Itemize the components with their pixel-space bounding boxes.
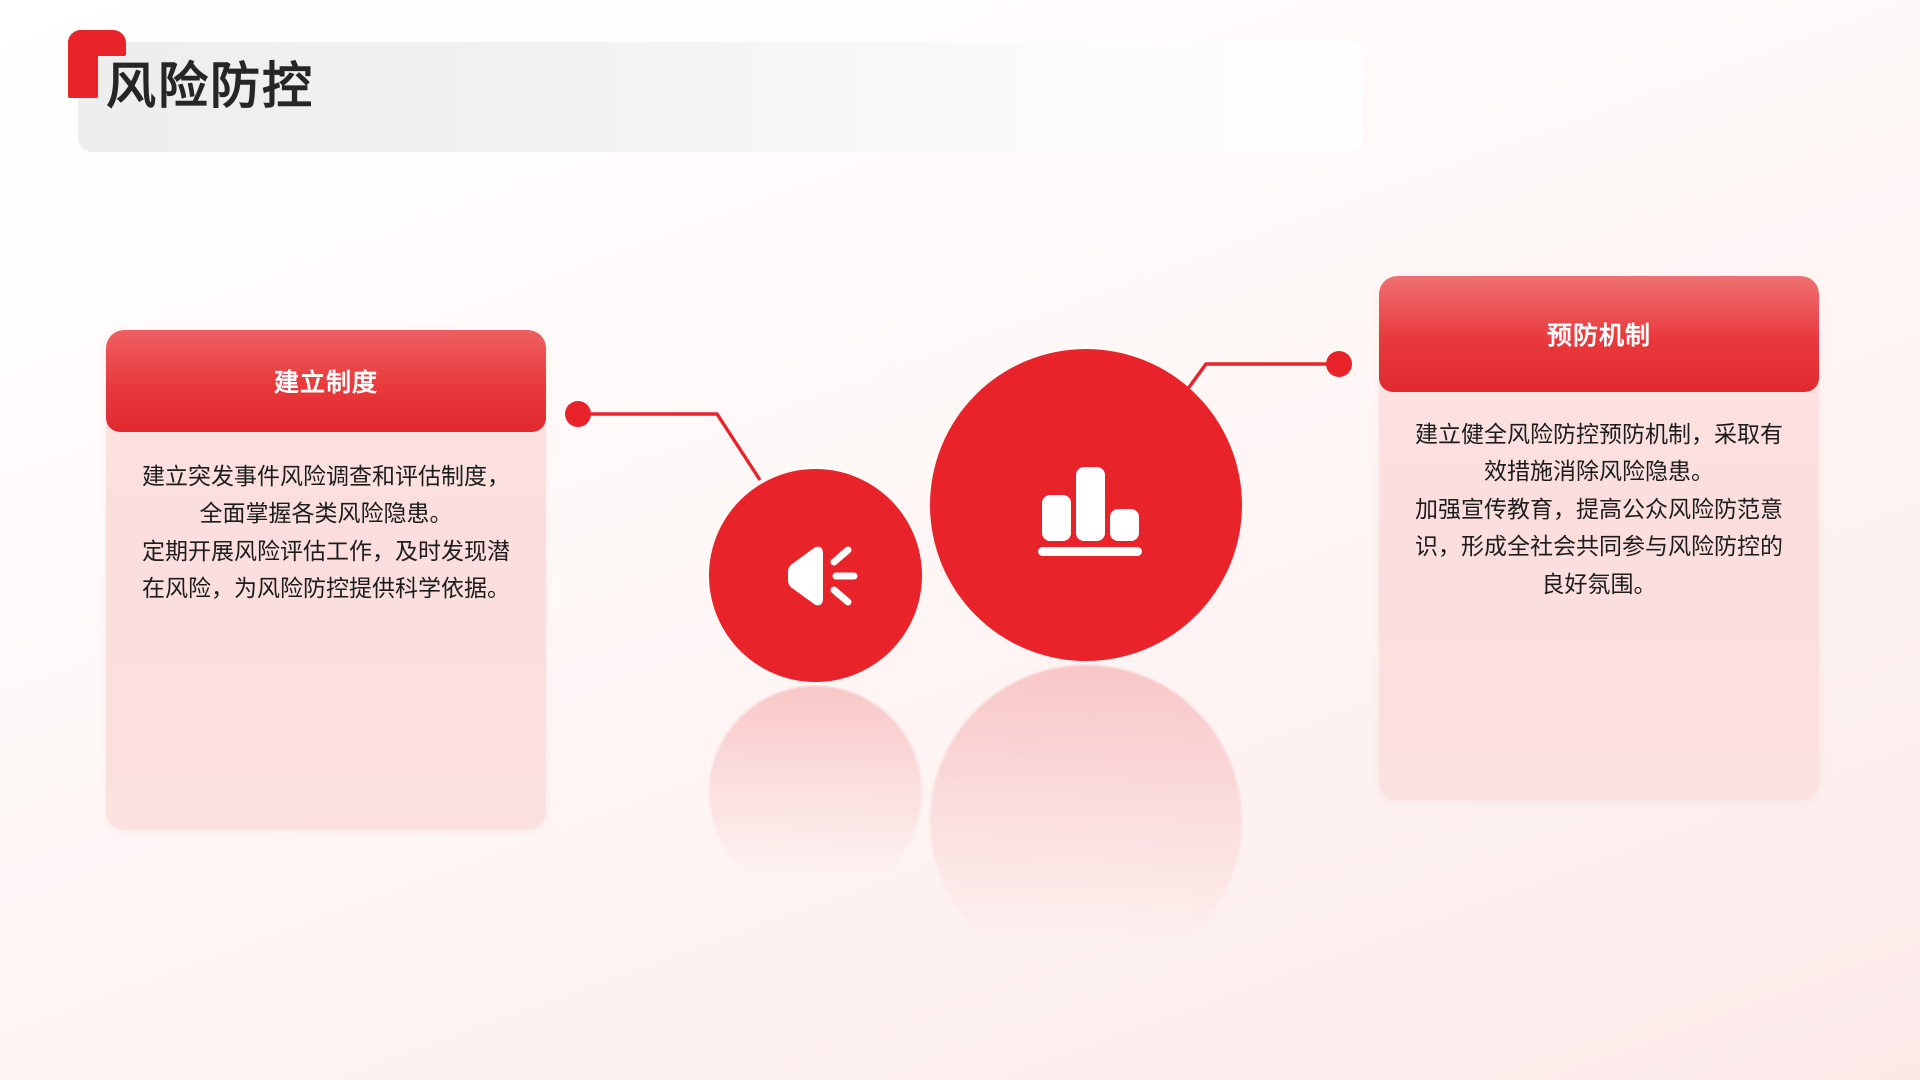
card-heading-prevention-mechanism: 预防机制 [1379, 276, 1819, 392]
connector-left-dot [565, 401, 591, 427]
icon-circle-bar-chart[interactable] [930, 349, 1242, 661]
card-prevention-mechanism[interactable]: 预防机制 建立健全风险防控预防机制，采取有效措施消除风险隐患。 加强宣传教育，提… [1379, 276, 1819, 800]
bar-chart-icon [1020, 439, 1152, 571]
page-title: 风险防控 [106, 56, 314, 116]
speaker-icon [768, 528, 864, 624]
connector-left-line [585, 414, 760, 480]
card-body-prevention-mechanism: 建立健全风险防控预防机制，采取有效措施消除风险隐患。 加强宣传教育，提高公众风险… [1379, 392, 1819, 603]
card-body-establish-system: 建立突发事件风险调查和评估制度，全面掌握各类风险隐患。 定期开展风险评估工作，及… [106, 432, 546, 608]
circle-reflection-small [709, 686, 922, 899]
card-establish-system[interactable]: 建立制度 建立突发事件风险调查和评估制度，全面掌握各类风险隐患。 定期开展风险评… [106, 330, 546, 830]
connector-right-dot [1326, 351, 1352, 377]
icon-circle-speaker[interactable] [709, 469, 922, 682]
card-heading-establish-system: 建立制度 [106, 330, 546, 432]
circle-reflection-large [930, 665, 1242, 977]
